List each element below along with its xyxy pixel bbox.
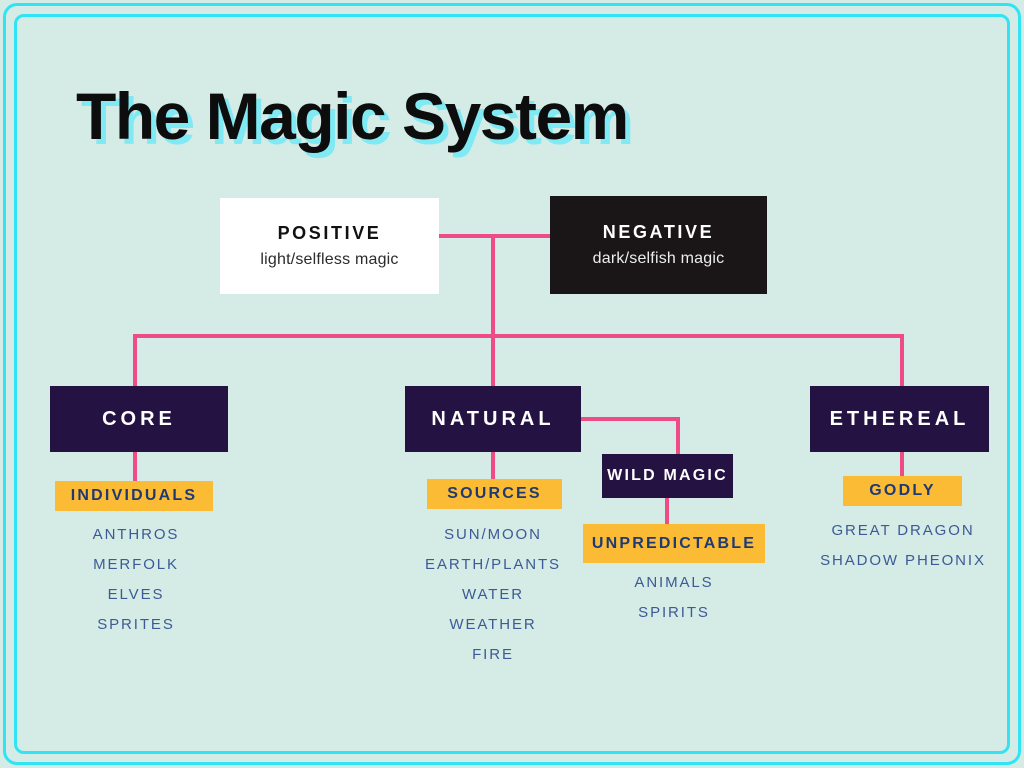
connector-wildmagic-to-unpredictable bbox=[665, 498, 669, 524]
box-negative[interactable]: NEGATIVE dark/selfish magic bbox=[550, 196, 767, 294]
list-item: SUN/MOON bbox=[444, 520, 542, 550]
connector-bus-to-core bbox=[133, 334, 137, 386]
connector-core-to-individuals bbox=[133, 452, 137, 482]
connector-natural-to-wildmagic-vertical bbox=[676, 417, 680, 455]
box-unpredictable-label: UNPREDICTABLE bbox=[592, 535, 756, 553]
connector-trunk-vertical bbox=[491, 234, 495, 338]
list-item: EARTH/PLANTS bbox=[425, 550, 561, 580]
box-unpredictable[interactable]: UNPREDICTABLE bbox=[583, 524, 765, 563]
list-item: MERFOLK bbox=[93, 550, 179, 580]
box-godly[interactable]: GODLY bbox=[843, 476, 962, 506]
connector-natural-to-wildmagic-horizontal bbox=[581, 417, 680, 421]
list-ethereal-items: GREAT DRAGON SHADOW PHEONIX bbox=[803, 516, 1003, 576]
list-item: WEATHER bbox=[449, 610, 536, 640]
list-item: ANIMALS bbox=[634, 568, 713, 598]
list-item: ANTHROS bbox=[93, 520, 180, 550]
connector-ethereal-to-godly bbox=[900, 452, 904, 477]
box-positive[interactable]: POSITIVE light/selfless magic bbox=[220, 198, 439, 294]
connector-main-bus bbox=[133, 334, 904, 338]
connector-bus-to-ethereal bbox=[900, 334, 904, 386]
list-item: WATER bbox=[462, 580, 524, 610]
list-item: FIRE bbox=[472, 640, 514, 670]
connector-natural-to-sources bbox=[491, 452, 495, 480]
connector-bus-to-natural bbox=[491, 334, 495, 386]
box-core-label: CORE bbox=[102, 408, 176, 431]
box-natural-label: NATURAL bbox=[431, 408, 554, 431]
box-sources[interactable]: SOURCES bbox=[427, 479, 562, 509]
list-natural-items: SUN/MOON EARTH/PLANTS WATER WEATHER FIRE bbox=[393, 520, 593, 670]
box-positive-label: POSITIVE bbox=[278, 223, 382, 244]
list-item: GREAT DRAGON bbox=[831, 516, 974, 546]
box-individuals-label: INDIVIDUALS bbox=[71, 487, 197, 505]
list-wild-magic-items: ANIMALS SPIRITS bbox=[574, 568, 774, 628]
box-ethereal[interactable]: ETHEREAL bbox=[810, 386, 989, 452]
box-individuals[interactable]: INDIVIDUALS bbox=[55, 481, 213, 511]
list-core-items: ANTHROS MERFOLK ELVES SPRITES bbox=[36, 520, 236, 640]
box-core[interactable]: CORE bbox=[50, 386, 228, 452]
list-item: SPIRITS bbox=[638, 598, 710, 628]
box-ethereal-label: ETHEREAL bbox=[830, 408, 970, 431]
box-sources-label: SOURCES bbox=[447, 485, 542, 503]
list-item: ELVES bbox=[108, 580, 165, 610]
box-wild-magic[interactable]: WILD MAGIC bbox=[602, 454, 733, 498]
box-negative-label: NEGATIVE bbox=[603, 222, 714, 243]
box-negative-sublabel: dark/selfish magic bbox=[593, 250, 725, 268]
box-natural[interactable]: NATURAL bbox=[405, 386, 581, 452]
box-wild-magic-label: WILD MAGIC bbox=[607, 467, 728, 485]
list-item: SHADOW PHEONIX bbox=[820, 546, 986, 576]
box-positive-sublabel: light/selfless magic bbox=[260, 251, 398, 269]
page-title: The Magic System bbox=[76, 78, 628, 154]
box-godly-label: GODLY bbox=[869, 482, 935, 500]
list-item: SPRITES bbox=[97, 610, 174, 640]
magic-system-diagram: The Magic System POSITIVE light/selfless… bbox=[0, 0, 1024, 768]
